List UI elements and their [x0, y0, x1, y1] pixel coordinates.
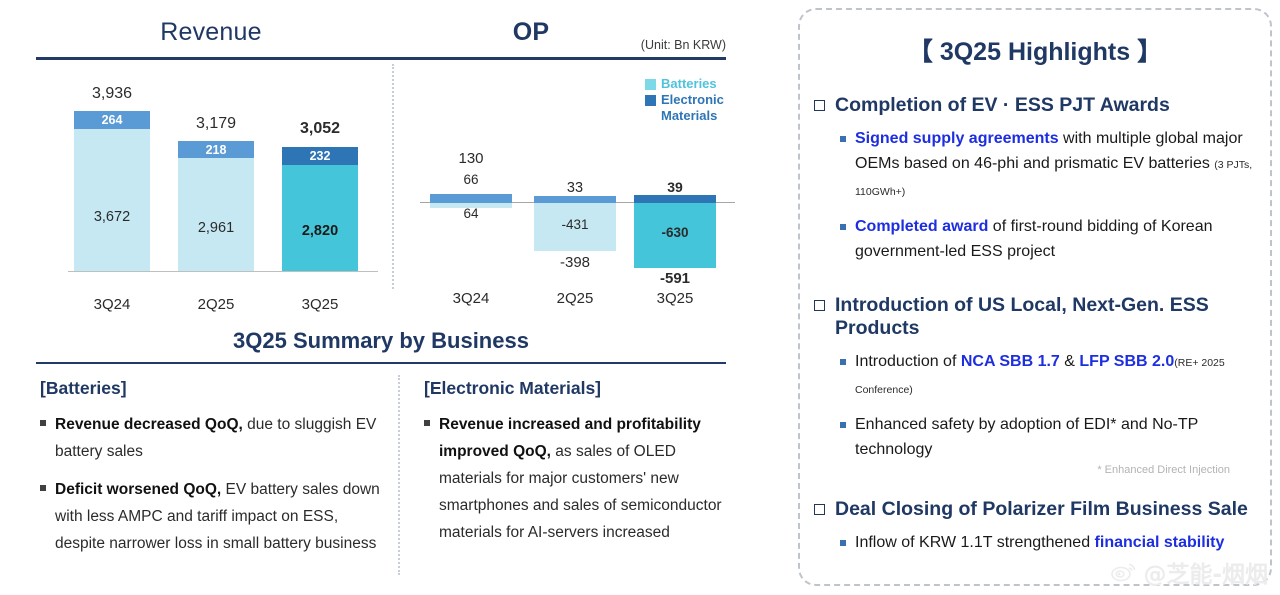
highlight-block-polarizer-sale: Deal Closing of Polarizer Film Business … [814, 498, 1270, 555]
revenue-bar-3q25: 3,052 232 2,820 3Q25 [282, 147, 358, 271]
bullet-square-icon [840, 422, 846, 428]
revenue-seg-em-label-3q24: 264 [74, 113, 150, 127]
revenue-bar-3q24: 3,936 264 3,672 3Q24 [74, 111, 150, 271]
highlight-emphasis: Signed supply agreements [855, 130, 1059, 147]
bullet-square-icon [424, 420, 430, 426]
highlight-block-header: Completion of EV · ESS PJT Awards [814, 94, 1270, 117]
slide-root: Revenue OP (Unit: Bn KRW) Batteries Elec… [0, 0, 1280, 595]
op-batt-label-3q25: -630 [634, 225, 716, 240]
summary-bullet: Revenue increased and profitability impr… [424, 411, 734, 546]
revenue-bar-2q25: 3,179 218 2,961 2Q25 [178, 141, 254, 271]
op-bar-2q25: 33 -431 -398 2Q25 [534, 150, 616, 280]
revenue-total-3q25: 3,052 [260, 120, 380, 138]
highlights-panel: 【 3Q25 Highlights 】 Completion of EV · E… [798, 8, 1272, 586]
op-total-3q25: -591 [612, 270, 738, 287]
summary-bullet-text: Deficit worsened QoQ, EV battery sales d… [55, 476, 388, 557]
op-seg-em-3q24 [430, 194, 512, 203]
op-seg-batt-3q25: -630 [634, 203, 716, 268]
square-outline-icon [814, 300, 825, 311]
chart-header: Revenue OP (Unit: Bn KRW) [36, 18, 726, 58]
summary-column-batteries: [Batteries] Revenue decreased QoQ, due t… [40, 378, 388, 568]
highlight-emphasis-2: LFP SBB 2.0 [1079, 353, 1174, 370]
highlight-heading: Completion of EV · ESS PJT Awards [835, 94, 1170, 117]
highlight-emphasis: Completed award [855, 218, 988, 235]
bullet-square-icon [840, 359, 846, 365]
square-outline-icon [814, 100, 825, 111]
highlight-pre: Introduction of [855, 353, 961, 370]
bullet-square-icon [840, 136, 846, 142]
left-panel: Revenue OP (Unit: Bn KRW) Batteries Elec… [0, 0, 790, 595]
highlight-block-header: Deal Closing of Polarizer Film Business … [814, 498, 1270, 521]
op-bar-3q24: 130 66 64 3Q24 [430, 150, 512, 280]
highlight-bullet-text: Enhanced safety by adoption of EDI* and … [855, 412, 1270, 462]
legend-swatch-batteries [645, 79, 656, 90]
weibo-icon [1111, 562, 1137, 582]
revenue-seg-batt-3q24: 3,672 [74, 129, 150, 271]
op-batt-label-2q25: -431 [534, 217, 616, 232]
revenue-seg-em-2q25: 218 [178, 141, 254, 158]
op-xlabel-3q25: 3Q25 [610, 290, 740, 307]
summary-heading-batteries: [Batteries] [40, 378, 388, 399]
highlight-heading: Introduction of US Local, Next-Gen. ESS … [835, 294, 1270, 340]
watermark: @芝能-烟烟 [1111, 555, 1268, 589]
summary-bullet-bold: Deficit worsened QoQ, [55, 481, 221, 498]
highlight-bullet: Completed award of first-round bidding o… [840, 214, 1270, 264]
square-outline-icon [814, 504, 825, 515]
summary-heading-electronic-materials: [Electronic Materials] [424, 378, 734, 399]
highlight-heading: Deal Closing of Polarizer Film Business … [835, 498, 1248, 521]
revenue-total-2q25: 3,179 [156, 115, 276, 133]
highlight-bullet: Introduction of NCA SBB 1.7 & LFP SBB 2.… [840, 349, 1270, 403]
op-chart-title: OP [391, 18, 671, 47]
revenue-chart-title: Revenue [36, 18, 386, 47]
summary-divider [36, 362, 726, 364]
revenue-seg-batt-2q25: 2,961 [178, 158, 254, 271]
highlight-bullet: Enhanced safety by adoption of EDI* and … [840, 412, 1270, 462]
highlight-block-ev-ess-awards: Completion of EV · ESS PJT Awards Signed… [814, 94, 1270, 264]
legend-swatch-electronic-materials [645, 95, 656, 106]
op-batt-label-3q24: 64 [408, 206, 534, 221]
summary-bullet-bold: Revenue decreased QoQ, [55, 416, 243, 433]
highlight-bullet: Signed supply agreements with multiple g… [840, 126, 1270, 205]
legend-item-electronic-materials: Electronic Materials [645, 92, 755, 124]
highlight-mid: & [1060, 353, 1080, 370]
highlight-bullet-text: Inflow of KRW 1.1T strengthened financia… [855, 530, 1224, 555]
revenue-seg-batt-3q25: 2,820 [282, 165, 358, 271]
op-bar-3q25: 39 -630 -591 3Q25 [634, 150, 716, 280]
highlight-bullet: Inflow of KRW 1.1T strengthened financia… [840, 530, 1270, 555]
revenue-total-3q24: 3,936 [52, 85, 172, 103]
legend-label-electronic-materials: Electronic Materials [661, 92, 755, 124]
bullet-square-icon [840, 224, 846, 230]
revenue-baseline [68, 271, 378, 272]
op-seg-batt-2q25: -431 [534, 203, 616, 251]
revenue-seg-batt-label-3q24: 3,672 [74, 209, 150, 225]
bullet-square-icon [40, 420, 46, 426]
chart-vertical-divider [392, 64, 394, 289]
highlight-bullet-text: Introduction of NCA SBB 1.7 & LFP SBB 2.… [855, 349, 1270, 403]
revenue-seg-em-label-2q25: 218 [178, 143, 254, 157]
op-total-2q25: -398 [512, 254, 638, 271]
legend-label-batteries: Batteries [661, 76, 717, 92]
op-seg-em-2q25 [534, 196, 616, 203]
header-divider [36, 57, 726, 60]
op-seg-em-3q25 [634, 195, 716, 203]
highlight-footnote: * Enhanced Direct Injection [814, 464, 1230, 476]
summary-bullet: Revenue decreased QoQ, due to sluggish E… [40, 411, 388, 465]
unit-note: (Unit: Bn KRW) [641, 38, 726, 52]
summary-bullet-text: Revenue decreased QoQ, due to sluggish E… [55, 411, 388, 465]
chart-legend: Batteries Electronic Materials [645, 76, 755, 124]
bullet-square-icon [840, 540, 846, 546]
highlight-emphasis: financial stability [1095, 534, 1225, 551]
summary-bullet-text: Revenue increased and profitability impr… [439, 411, 734, 546]
revenue-seg-batt-label-2q25: 2,961 [178, 220, 254, 236]
summary-bullet: Deficit worsened QoQ, EV battery sales d… [40, 476, 388, 557]
op-chart: 130 66 64 3Q24 33 -431 -398 2Q25 39 [410, 150, 740, 310]
revenue-seg-em-3q25: 232 [282, 147, 358, 165]
highlight-bullet-text: Completed award of first-round bidding o… [855, 214, 1270, 264]
op-total-3q24: 130 [410, 150, 532, 167]
highlight-block-ess-products: Introduction of US Local, Next-Gen. ESS … [814, 294, 1270, 476]
op-em-label-3q25: 39 [614, 179, 736, 195]
highlight-block-header: Introduction of US Local, Next-Gen. ESS … [814, 294, 1270, 340]
revenue-seg-em-3q24: 264 [74, 111, 150, 129]
highlight-bullet-text: Signed supply agreements with multiple g… [855, 126, 1270, 205]
summary-vertical-divider [398, 375, 400, 575]
highlights-title: 【 3Q25 Highlights 】 [800, 32, 1270, 68]
summary-column-electronic-materials: [Electronic Materials] Revenue increased… [424, 378, 734, 557]
revenue-seg-em-label-3q25: 232 [282, 149, 358, 163]
revenue-chart: 3,936 264 3,672 3Q24 3,179 218 2,961 2Q2… [40, 95, 385, 290]
revenue-xlabel-3q25: 3Q25 [254, 296, 386, 313]
summary-title: 3Q25 Summary by Business [36, 328, 726, 354]
legend-item-batteries: Batteries [645, 76, 755, 92]
highlight-emphasis: NCA SBB 1.7 [961, 353, 1060, 370]
watermark-handle: @芝能-烟烟 [1143, 555, 1268, 589]
bullet-square-icon [40, 485, 46, 491]
highlight-pre: Inflow of KRW 1.1T strengthened [855, 534, 1095, 551]
revenue-seg-batt-label-3q25: 2,820 [282, 223, 358, 239]
